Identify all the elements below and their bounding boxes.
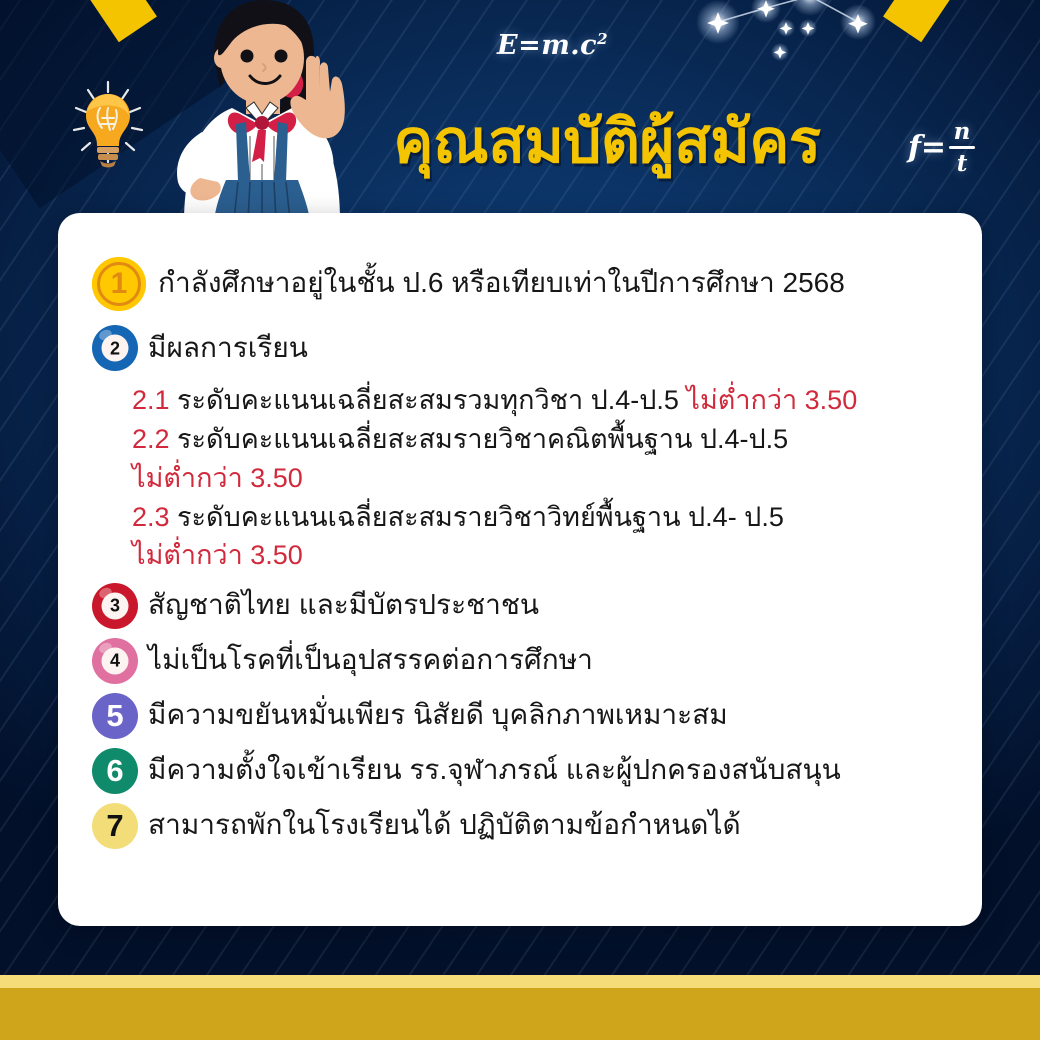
constellation-icon	[690, 0, 930, 114]
ball-disc: 3	[102, 592, 129, 619]
badge-number-3: 3	[92, 583, 138, 629]
list-item-5: 5 มีความขยันหมั่นเพียร นิสัยดี บุคลิกภาพ…	[92, 693, 956, 739]
list-item-3-text: สัญชาติไทย และมีบัตรประชาชน	[148, 583, 539, 622]
qualifications-list: 1 กำลังศึกษาอยู่ในชั้น ป.6 หรือเทียบเท่า…	[92, 257, 956, 858]
fraction-denominator: t	[957, 150, 968, 175]
lightbulb-icon	[64, 78, 152, 174]
badge-number-2-label: 2	[110, 339, 120, 357]
badge-number-5-label: 5	[106, 700, 123, 731]
fraction-bar	[949, 146, 975, 149]
equation-f-lhs: f=	[908, 130, 946, 165]
badge-number-6: 6	[92, 748, 138, 794]
badge-number-7-label: 7	[106, 810, 123, 841]
badge-number-2: 2	[92, 325, 138, 371]
sub-item-2-2-number: 2.2	[132, 424, 170, 454]
qualifications-card: 1 กำลังศึกษาอยู่ในชั้น ป.6 หรือเทียบเท่า…	[58, 213, 982, 926]
list-item-2: 2 มีผลการเรียน	[92, 325, 956, 371]
list-item-7: 7 สามารถพักในโรงเรียนได้ ปฏิบัติตามข้อกำ…	[92, 803, 956, 849]
badge-number-4: 4	[92, 638, 138, 684]
list-item-5-text: มีความขยันหมั่นเพียร นิสัยดี บุคลิกภาพเห…	[148, 693, 728, 732]
list-item-4: 4 ไม่เป็นโรคที่เป็นอุปสรรคต่อการศึกษา	[92, 638, 956, 684]
sub-item-2-1-text: ระดับคะแนนเฉลี่ยสะสมรวมทุกวิชา ป.4-ป.5	[170, 385, 687, 415]
equation-emc2-base: E=m.c	[497, 30, 597, 61]
equation-fraction: n t	[949, 120, 975, 175]
sub-item-2-3-number: 2.3	[132, 502, 170, 532]
bottom-band-light	[0, 975, 1040, 988]
sub-item-2-1-highlight: ไม่ต่ำกว่า 3.50	[686, 385, 857, 415]
sub-item-2-1-number: 2.1	[132, 385, 170, 415]
badge-number-7: 7	[92, 803, 138, 849]
list-item-1-text: กำลังศึกษาอยู่ในชั้น ป.6 หรือเทียบเท่าใน…	[158, 257, 845, 300]
badge-number-6-label: 6	[106, 755, 123, 786]
badge-number-4-label: 4	[110, 652, 120, 670]
equation-emc2-exponent: 2	[597, 30, 608, 48]
sub-item-2-3: 2.3 ระดับคะแนนเฉลี่ยสะสมรายวิชาวิทย์พื้น…	[132, 498, 956, 575]
list-item-2-text: มีผลการเรียน	[148, 325, 308, 365]
ball-disc: 4	[102, 647, 129, 674]
sublist-grades: 2.1 ระดับคะแนนเฉลี่ยสะสมรวมทุกวิชา ป.4-ป…	[132, 381, 956, 575]
fraction-numerator: n	[954, 120, 971, 145]
list-item-7-text: สามารถพักในโรงเรียนได้ ปฏิบัติตามข้อกำหน…	[148, 803, 741, 842]
sub-item-2-3-text: ระดับคะแนนเฉลี่ยสะสมรายวิชาวิทย์พื้นฐาน …	[170, 502, 784, 532]
ball-disc: 2	[102, 335, 129, 362]
list-item-3: 3 สัญชาติไทย และมีบัตรประชาชน	[92, 583, 956, 629]
list-item-6: 6 มีความตั้งใจเข้าเรียน รร.จุฬาภรณ์ และผ…	[92, 748, 956, 794]
sub-item-2-2-text: ระดับคะแนนเฉลี่ยสะสมรายวิชาคณิตพื้นฐาน ป…	[170, 424, 789, 454]
sub-item-2-2-highlight: ไม่ต่ำกว่า 3.50	[132, 463, 303, 493]
list-item-4-text: ไม่เป็นโรคที่เป็นอุปสรรคต่อการศึกษา	[148, 638, 593, 677]
equation-emc2: E=m.c2	[497, 30, 608, 61]
badge-number-5: 5	[92, 693, 138, 739]
sub-item-2-3-highlight: ไม่ต่ำกว่า 3.50	[132, 540, 303, 570]
badge-number-1-label: 1	[111, 269, 128, 299]
badge-number-3-label: 3	[110, 597, 120, 615]
badge-number-1: 1	[92, 257, 146, 311]
equation-f-n-over-t: f= n t	[908, 120, 975, 175]
sub-item-2-2: 2.2 ระดับคะแนนเฉลี่ยสะสมรายวิชาคณิตพื้นฐ…	[132, 420, 956, 497]
poster-root: E=m.c2 f= n t คุณสมบัติผู้สมัคร 1 กำลังศ…	[0, 0, 1040, 1040]
sub-item-2-1: 2.1 ระดับคะแนนเฉลี่ยสะสมรวมทุกวิชา ป.4-ป…	[132, 381, 956, 419]
waving-schoolgirl-illustration	[140, 0, 384, 220]
page-title: คุณสมบัติผู้สมัคร	[372, 100, 842, 184]
bottom-band-gold	[0, 988, 1040, 1040]
list-item-6-text: มีความตั้งใจเข้าเรียน รร.จุฬาภรณ์ และผู้…	[148, 748, 841, 787]
list-item-1: 1 กำลังศึกษาอยู่ในชั้น ป.6 หรือเทียบเท่า…	[92, 257, 956, 311]
